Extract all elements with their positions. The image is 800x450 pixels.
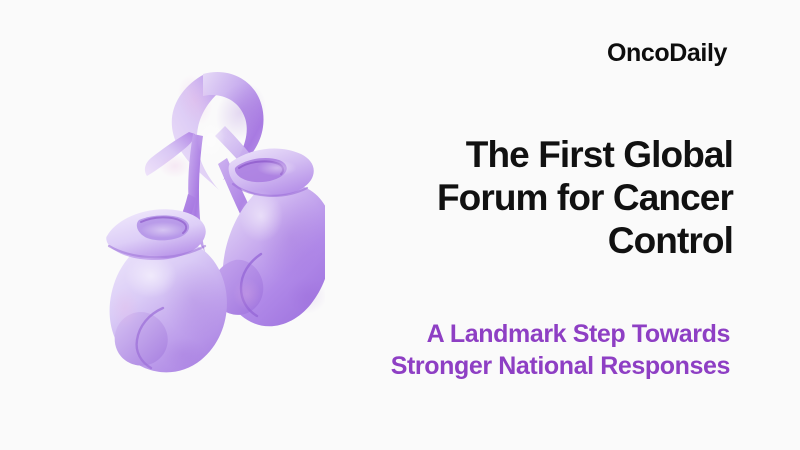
slide-canvas: OncoDaily The First Global Forum for Can…: [0, 0, 800, 450]
headline-line-3: Control: [303, 219, 733, 262]
page-title: The First Global Forum for Cancer Contro…: [303, 133, 733, 262]
boxing-glove-left-illustration: [106, 209, 232, 372]
subheadline-line-1: A Landmark Step Towards: [260, 318, 730, 350]
brand-logo-oncodaily[interactable]: OncoDaily: [607, 41, 727, 66]
subheadline-line-2: Stronger National Responses: [260, 350, 730, 382]
headline-line-1: The First Global: [303, 133, 733, 176]
headline-line-2: Forum for Cancer: [303, 176, 733, 219]
page-subtitle: A Landmark Step Towards Stronger Nationa…: [260, 318, 730, 382]
